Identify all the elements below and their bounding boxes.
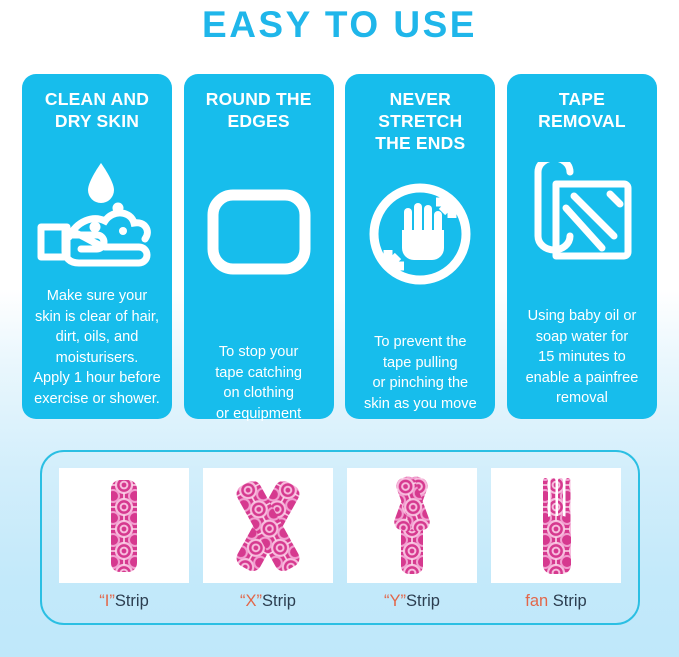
handwash-droplet-icon — [35, 150, 159, 270]
strip-tile — [59, 468, 189, 583]
strip-label-accent: “Y” — [384, 592, 406, 610]
strip-label: “I”Strip — [99, 591, 149, 611]
card-title: CLEAN AND DRY SKIN — [45, 88, 149, 132]
card-title: ROUND THE EDGES — [206, 88, 312, 132]
x-strip-icon — [213, 474, 323, 578]
strip-item-fan: fan Strip — [491, 468, 621, 611]
instruction-cards: CLEAN AND DRY SKIN Make sure your skin i… — [22, 74, 657, 419]
strip-item-x: “X”Strip — [203, 468, 333, 611]
card-body: Using baby oil or soap water for 15 minu… — [526, 306, 639, 409]
strip-label-suffix: Strip — [406, 592, 440, 610]
card-clean-and-dry-skin: CLEAN AND DRY SKIN Make sure your skin i… — [22, 74, 172, 419]
strip-label-accent: “X” — [240, 592, 262, 610]
strip-label-suffix: Strip — [548, 592, 587, 610]
no-stretch-hand-prohibited-icon — [358, 174, 482, 294]
strip-label: fan Strip — [525, 591, 586, 611]
card-body: To prevent the tape pulling or pinching … — [364, 332, 477, 414]
header: EASY TO USE — [0, 0, 679, 48]
strip-label: “X”Strip — [240, 591, 296, 611]
card-round-the-edges: ROUND THE EDGES To stop your tape catchi… — [184, 74, 334, 419]
strip-item-i: “I”Strip — [59, 468, 189, 611]
strip-types-panel: “I”Strip “X”Strip “Y”Strip — [40, 450, 640, 625]
card-title: TAPE REMOVAL — [538, 88, 626, 132]
strip-tile — [347, 468, 477, 583]
y-strip-icon — [357, 474, 467, 578]
strip-tile — [203, 468, 333, 583]
strip-item-y: “Y”Strip — [347, 468, 477, 611]
strip-label-suffix: Strip — [262, 592, 296, 610]
strip-tile — [491, 468, 621, 583]
card-never-stretch-the-ends: NEVER STRETCH THE ENDS — [345, 74, 495, 419]
peeling-tape-icon — [520, 154, 644, 274]
card-body: Make sure your skin is clear of hair, di… — [33, 286, 160, 409]
card-tape-removal: TAPE REMOVAL Using baby oil or soap wate… — [507, 74, 657, 419]
strip-label-accent: “I” — [99, 592, 115, 610]
strip-label-suffix: Strip — [115, 592, 149, 610]
i-strip-icon — [69, 474, 179, 578]
page-title: EASY TO USE — [0, 2, 679, 48]
strip-label-accent: fan — [525, 592, 548, 610]
card-title: NEVER STRETCH THE ENDS — [375, 88, 465, 154]
rounded-rectangle-icon — [197, 172, 321, 292]
fan-strip-icon — [501, 474, 611, 578]
card-body: To stop your tape catching on clothing o… — [215, 342, 302, 424]
strip-label: “Y”Strip — [384, 591, 440, 611]
